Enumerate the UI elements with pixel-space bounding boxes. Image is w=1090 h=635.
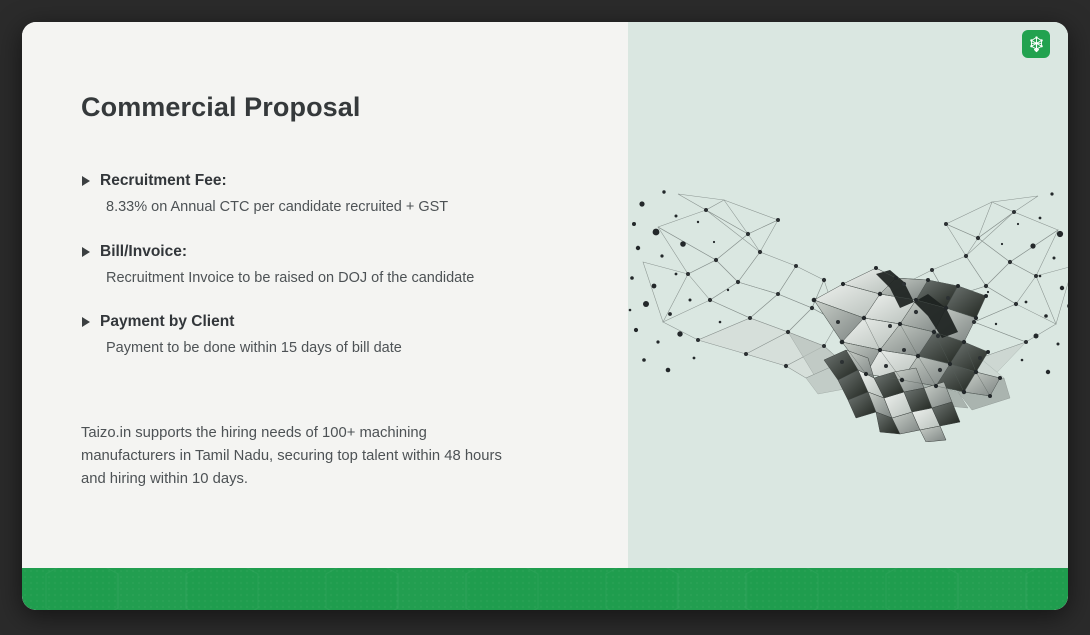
- bullet-list: Recruitment Fee: 8.33% on Annual CTC per…: [81, 172, 601, 384]
- footnote-text: Taizo.in supports the hiring needs of 10…: [81, 422, 521, 491]
- bullet-heading-row: Recruitment Fee:: [81, 172, 601, 190]
- list-item: Recruitment Fee: 8.33% on Annual CTC per…: [81, 172, 601, 218]
- triangle-right-icon: [82, 317, 90, 327]
- bullet-description: 8.33% on Annual CTC per candidate recrui…: [106, 198, 601, 218]
- footer-accent-bar: [22, 568, 1068, 610]
- page-title: Commercial Proposal: [81, 92, 361, 123]
- list-item: Bill/Invoice: Recruitment Invoice to be …: [81, 243, 601, 289]
- hexagon-pattern-overlay: [22, 568, 1068, 610]
- bullet-description: Recruitment Invoice to be raised on DOJ …: [106, 269, 601, 289]
- list-item: Payment by Client Payment to be done wit…: [81, 313, 601, 359]
- low-poly-handshake-illustration: [628, 182, 1068, 442]
- slide-right-panel: [628, 22, 1068, 568]
- bullet-heading-row: Bill/Invoice:: [81, 243, 601, 261]
- bullet-heading-row: Payment by Client: [81, 313, 601, 331]
- bullet-title: Payment by Client: [100, 313, 234, 331]
- triangle-right-icon: [82, 247, 90, 257]
- taizo-network-logo-icon: [1022, 30, 1050, 58]
- slide-left-panel: Commercial Proposal Recruitment Fee: 8.3…: [22, 22, 628, 568]
- triangle-right-icon: [82, 176, 90, 186]
- bullet-title: Recruitment Fee:: [100, 172, 227, 190]
- bullet-description: Payment to be done within 15 days of bil…: [106, 339, 601, 359]
- presentation-slide: Commercial Proposal Recruitment Fee: 8.3…: [22, 22, 1068, 610]
- bullet-title: Bill/Invoice:: [100, 243, 187, 261]
